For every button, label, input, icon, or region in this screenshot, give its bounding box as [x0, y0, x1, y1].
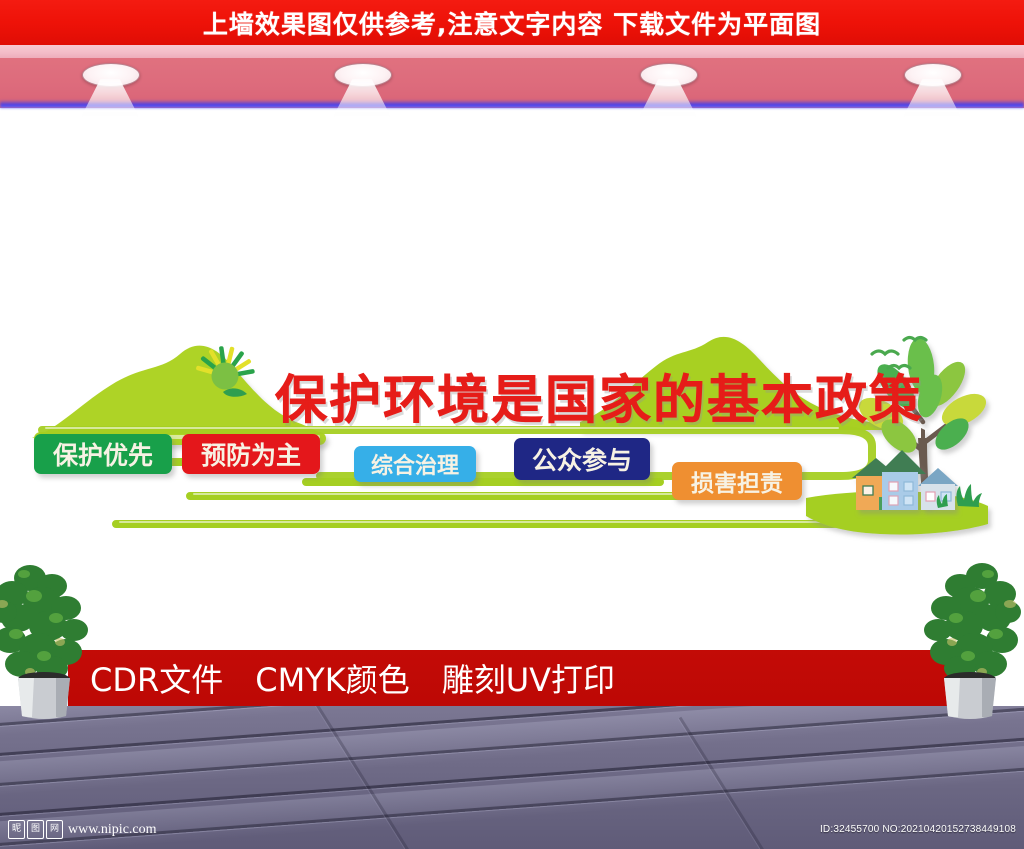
ceiling-downlight-3: [636, 63, 700, 121]
bottom-spec-text: CDR文件 CMYK颜色 雕刻UV打印: [90, 655, 615, 701]
logo-char-2: 图: [27, 820, 44, 839]
potted-plant-right: [912, 556, 1024, 721]
downlight-beam: [78, 79, 142, 123]
badge-gongzhongcanyu: 公众参与: [514, 438, 650, 480]
downlight-beam: [900, 79, 964, 123]
ceiling-downlight-4: [900, 63, 964, 121]
downlight-beam: [636, 79, 700, 123]
logo-char-1: 昵: [8, 820, 25, 839]
ceiling-bulkhead: [0, 45, 1024, 115]
plant-foliage: [0, 565, 88, 680]
ceiling-lip: [0, 45, 1024, 58]
badge-zonghezhili: 综合治理: [354, 446, 476, 482]
downlight-beam: [330, 79, 394, 123]
asset-id-label: ID:32455700 NO:20210420152738449108: [820, 824, 1016, 835]
ceiling-downlight-2: [330, 63, 394, 121]
artwork-main-title: 保护环境是国家的基本政策: [275, 358, 923, 433]
top-notice-banner: 上墙效果图仅供参考,注意文字内容 下载文件为平面图: [0, 0, 1024, 45]
site-logo: 昵 图 网 www.nipic.com: [8, 820, 157, 839]
top-notice-text: 上墙效果图仅供参考,注意文字内容 下载文件为平面图: [203, 5, 821, 41]
ceiling-face: [0, 58, 1024, 108]
badge-baohuyouxian: 保护优先: [34, 434, 172, 474]
wall-artwork: 保护环境是国家的基本政策 保护优先 预防为主 综合治理 公众参与 损害担责: [20, 310, 1010, 550]
plant-foliage: [924, 563, 1021, 680]
site-url: www.nipic.com: [68, 822, 157, 838]
logo-char-3: 网: [46, 820, 63, 839]
slogan-badges: 保护优先 预防为主 综合治理 公众参与 损害担责: [34, 430, 834, 500]
potted-plant-left: [0, 556, 102, 721]
badge-sunhaidanze: 损害担责: [672, 462, 802, 500]
poster-mockup-canvas: 上墙效果图仅供参考,注意文字内容 下载文件为平面图: [0, 0, 1024, 849]
bottom-spec-banner: CDR文件 CMYK颜色 雕刻UV打印: [68, 650, 958, 706]
nipic-logo-icon: 昵 图 网: [8, 820, 63, 839]
ceiling-downlight-1: [78, 63, 142, 121]
badge-yufangweizhu: 预防为主: [182, 434, 320, 474]
